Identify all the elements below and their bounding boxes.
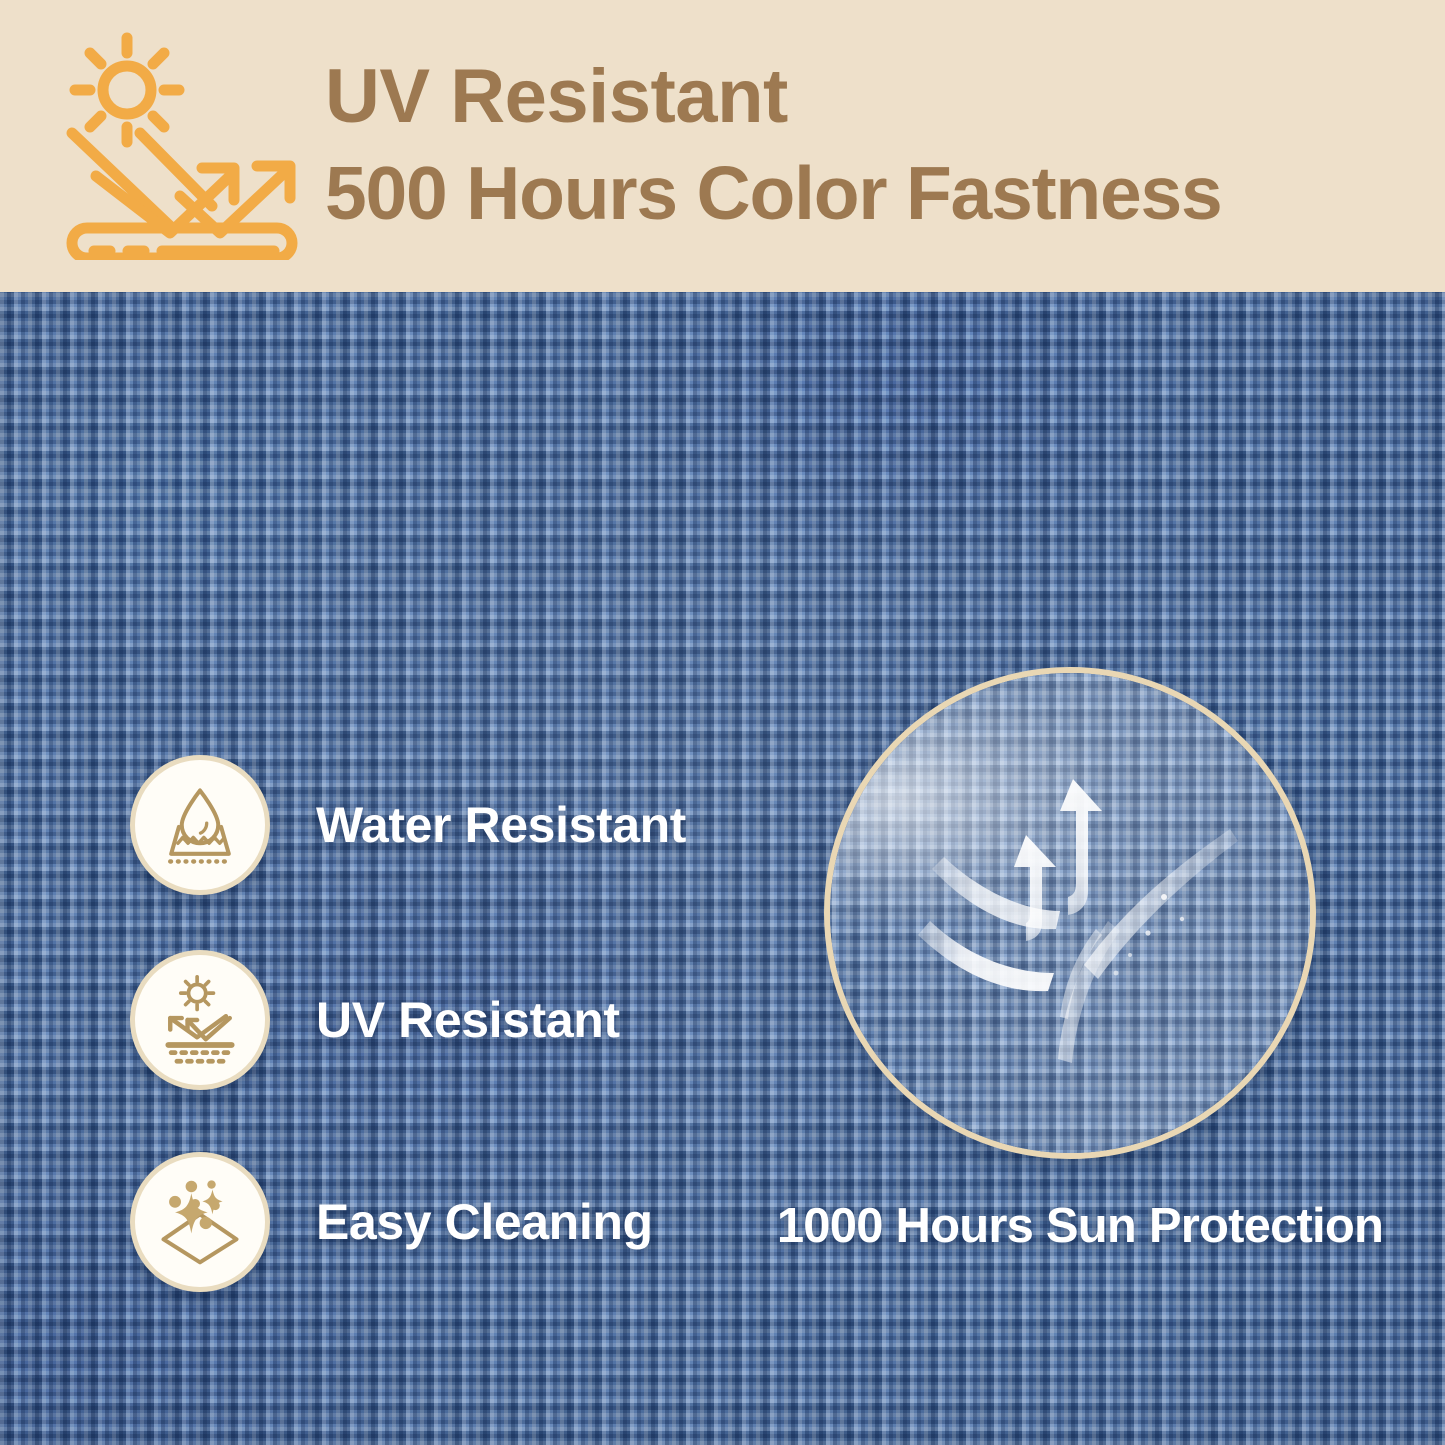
feature-item-uv-resistant: UV Resistant (130, 950, 620, 1090)
badge-uv-resistant (130, 950, 270, 1090)
sun-ray-deflection-icon (152, 972, 248, 1068)
badge-easy-cleaning (130, 1152, 270, 1292)
sun-uv-deflection-icon (52, 28, 308, 260)
sun-protection-lens-inset (824, 667, 1316, 1159)
feature-label-water-resistant: Water Resistant (316, 796, 686, 854)
header-title-line2: 500 Hours Color Fastness (325, 145, 1385, 242)
water-droplet-on-fabric-icon (152, 777, 248, 873)
feature-label-uv-resistant: UV Resistant (316, 991, 620, 1049)
header-band: UV Resistant 500 Hours Color Fastness (0, 0, 1445, 292)
product-feature-infographic: UV Resistant 500 Hours Color Fastness (0, 0, 1445, 1445)
badge-water-resistant (130, 755, 270, 895)
feature-label-easy-cleaning: Easy Cleaning (316, 1193, 653, 1251)
lens-caption: 1000 Hours Sun Protection (770, 1198, 1390, 1254)
sparkle-diamond-icon (152, 1174, 248, 1270)
header-title-line1: UV Resistant (325, 48, 1385, 145)
feature-item-easy-cleaning: Easy Cleaning (130, 1152, 653, 1292)
feature-item-water-resistant: Water Resistant (130, 755, 686, 895)
header-text-block: UV Resistant 500 Hours Color Fastness (325, 48, 1385, 242)
white-sun-deflection-arrows (830, 673, 1310, 1153)
